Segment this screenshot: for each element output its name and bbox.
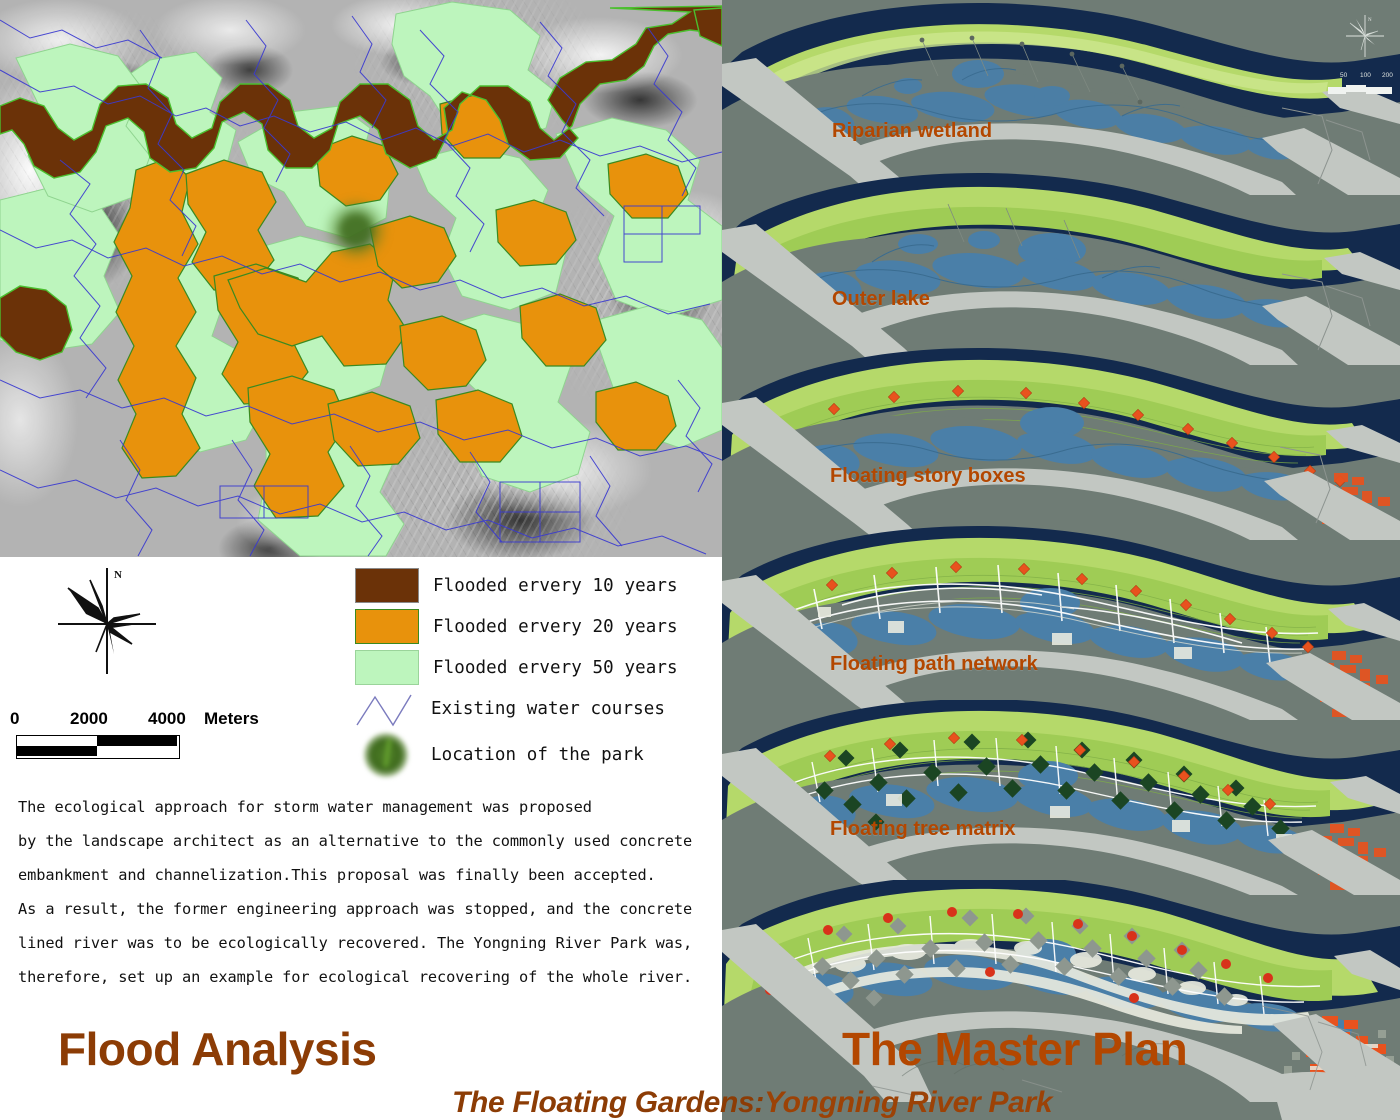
plan-label-tree-matrix: Floating tree matrix <box>830 818 1016 841</box>
legend-row-flood-10yr: Flooded ervery 10 years <box>355 565 715 606</box>
north-label: N <box>1368 18 1372 23</box>
description-line-6: therefore, set up an example for ecologi… <box>18 960 713 994</box>
legend-items: Flooded ervery 10 years Flooded ervery 2… <box>355 565 715 781</box>
plan-label-story-boxes: Floating story boxes <box>830 465 1026 488</box>
board-subtitle: The Floating Gardens:Yongning River Park <box>452 1086 1052 1120</box>
flood-analysis-map[interactable] <box>0 0 722 557</box>
flood-analysis-panel: N <box>0 0 722 1120</box>
scalebar-graphic <box>16 735 180 759</box>
legend-row-water-courses: Existing water courses <box>355 688 715 729</box>
plan-label-outer-lake: Outer lake <box>832 288 930 311</box>
description-paragraph: The ecological approach for storm water … <box>18 790 713 994</box>
scale-bar: 0 2000 4000 Meters <box>8 709 268 767</box>
legend-row-flood-20yr: Flooded ervery 20 years <box>355 606 715 647</box>
scalebar-units: Meters <box>204 709 259 729</box>
map-legend-block: N <box>0 557 722 782</box>
plan-scale-bar: 50 100 200 <box>1326 72 1396 98</box>
legend-row-park-location: Location of the park <box>355 729 715 781</box>
subtitle-part-2: Yongning River Park <box>764 1086 1052 1119</box>
description-line-1: The ecological approach for storm water … <box>18 790 713 824</box>
legend-label-park-location: Location of the park <box>431 745 644 765</box>
legend-label-flood-10yr: Flooded ervery 10 years <box>433 576 678 596</box>
flood-zone-overlay <box>0 0 722 557</box>
scalebar-tick-0: 0 <box>10 709 19 729</box>
legend-swatch-park-location <box>355 730 417 780</box>
plan-scale-tick-50: 50 <box>1340 72 1347 79</box>
legend-label-water-courses: Existing water courses <box>431 699 665 719</box>
plan-diagram-riparian-wetland[interactable]: Riparian wetland <box>722 0 1400 195</box>
plan-diagram-tree-matrix[interactable]: Floating tree matrix <box>722 700 1400 895</box>
park-location-icon <box>364 733 408 777</box>
legend-swatch-flood-10yr <box>355 568 419 603</box>
scalebar-tick-4000: 4000 <box>148 709 186 729</box>
plan-diagram-path-network[interactable]: Floating path network <box>722 525 1400 720</box>
description-line-5: lined river was to be ecologically recov… <box>18 926 713 960</box>
north-arrow-icon: N <box>1342 12 1388 60</box>
flood-analysis-title: Flood Analysis <box>58 1022 376 1076</box>
legend-row-flood-50yr: Flooded ervery 50 years <box>355 647 715 688</box>
plan-diagram-story-boxes[interactable]: Floating story boxes <box>722 345 1400 540</box>
master-plan-title: The Master Plan <box>842 1022 1187 1076</box>
plan-scale-tick-200: 200 <box>1382 72 1393 79</box>
plan-diagram-outer-lake[interactable]: Outer lake <box>722 170 1400 365</box>
master-plan-panel: Riparian wetland <box>722 0 1400 1120</box>
scalebar-tick-2000: 2000 <box>70 709 108 729</box>
plan-scale-graphic <box>1328 85 1392 92</box>
description-line-2: by the landscape architect as an alterna… <box>18 824 713 858</box>
description-line-3: embankment and channelization.This propo… <box>18 858 713 892</box>
legend-swatch-flood-20yr <box>355 609 419 644</box>
legend-label-flood-20yr: Flooded ervery 20 years <box>433 617 678 637</box>
compass-rose-icon: N <box>52 562 162 680</box>
plan-label-path-network: Floating path network <box>830 653 1038 676</box>
subtitle-part-1: The Floating Gardens: <box>452 1086 764 1119</box>
plan-label-riparian-wetland: Riparian wetland <box>832 120 992 143</box>
legend-swatch-flood-50yr <box>355 650 419 685</box>
svg-text:N: N <box>114 569 122 581</box>
legend-label-flood-50yr: Flooded ervery 50 years <box>433 658 678 678</box>
description-line-4: As a result, the former engineering appr… <box>18 892 713 926</box>
presentation-board: N <box>0 0 1400 1120</box>
legend-swatch-water-courses <box>355 691 417 727</box>
plan-diagram-master-composite[interactable] <box>722 880 1400 1120</box>
park-location-marker <box>330 204 382 256</box>
plan-scale-tick-100: 100 <box>1360 72 1371 79</box>
